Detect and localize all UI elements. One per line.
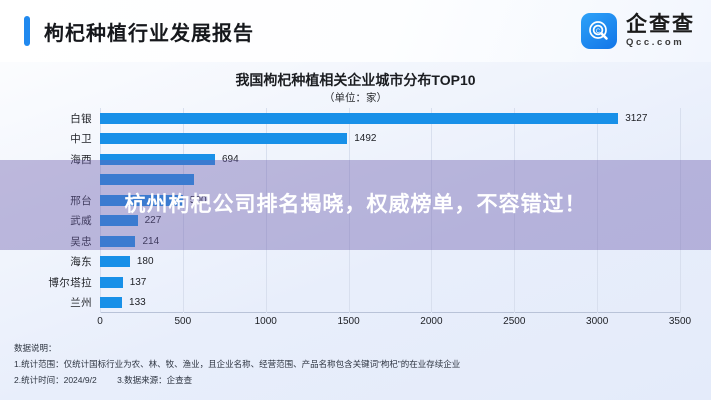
svg-text:C: C xyxy=(596,29,601,35)
x-tick-label: 500 xyxy=(175,316,192,327)
logo-en-text: Qcc.com xyxy=(626,38,695,48)
chart-bar[interactable] xyxy=(100,236,135,247)
bar-value-label: 3127 xyxy=(625,113,647,124)
report-page: 枸杞种植行业发展报告 C 企查查 Qcc.com 我国枸杞种植相关企业城市分布T… xyxy=(0,0,711,400)
chart-bar[interactable] xyxy=(100,133,347,144)
footer-heading: 数据说明： xyxy=(14,344,704,353)
bar-chart-plot: 白银3127中卫1492海西694邢台500武威227吴忠214海东180博尔塔… xyxy=(0,108,711,313)
chart-bar[interactable] xyxy=(100,277,123,288)
chart-row: 邢台500 xyxy=(0,190,711,211)
bar-value-label: 694 xyxy=(222,154,239,165)
x-axis-ticks: 0500100015002000250030003500 xyxy=(0,316,711,332)
footer-note-source: 3.数据来源：企查查 xyxy=(117,375,192,385)
category-label: 白银 xyxy=(0,111,92,126)
chart-bar[interactable] xyxy=(100,256,130,267)
x-tick-label: 1000 xyxy=(255,316,277,327)
footer-note-scope: 1.统计范围：仅统计国标行业为农、林、牧、渔业，且企业名称、经营范围、产品名称包… xyxy=(14,360,704,369)
brand-logo[interactable]: C 企查查 Qcc.com xyxy=(581,13,695,49)
chart-row xyxy=(0,170,711,191)
bar-value-label: 227 xyxy=(145,215,162,226)
logo-text-block: 企查查 Qcc.com xyxy=(626,14,695,48)
footer-note-meta: 2.统计时间：2024/9/2 3.数据来源：企查查 xyxy=(14,376,704,385)
chart-row: 吴忠214 xyxy=(0,231,711,252)
chart-bar[interactable] xyxy=(100,195,183,206)
chart-bar[interactable] xyxy=(100,154,215,165)
chart-row: 海东180 xyxy=(0,252,711,273)
x-tick-label: 2500 xyxy=(503,316,525,327)
page-title: 枸杞种植行业发展报告 xyxy=(44,17,254,46)
logo-cn-text: 企查查 xyxy=(626,14,695,35)
category-label: 吴忠 xyxy=(0,234,92,249)
x-tick-label: 3000 xyxy=(586,316,608,327)
x-tick-label: 1500 xyxy=(337,316,359,327)
qcc-logo-icon: C xyxy=(581,13,617,49)
chart-subtitle: （单位：家） xyxy=(0,90,711,105)
x-tick-label: 0 xyxy=(97,316,103,327)
bar-value-label: 180 xyxy=(137,256,154,267)
category-label: 兰州 xyxy=(0,295,92,310)
bar-value-label: 214 xyxy=(142,236,159,247)
page-header: 枸杞种植行业发展报告 C 企查查 Qcc.com xyxy=(0,0,711,62)
chart-row: 博尔塔拉137 xyxy=(0,272,711,293)
chart-bar[interactable] xyxy=(100,174,194,185)
chart-title: 我国枸杞种植相关企业城市分布TOP10 xyxy=(0,70,711,90)
category-label: 邢台 xyxy=(0,193,92,208)
bar-value-label: 500 xyxy=(190,195,207,206)
chart-bar[interactable] xyxy=(100,215,138,226)
header-accent-bar xyxy=(24,16,30,46)
chart-bar[interactable] xyxy=(100,113,618,124)
x-tick-label: 3500 xyxy=(669,316,691,327)
footer-note-time: 2.统计时间：2024/9/2 xyxy=(14,375,97,385)
chart-bar[interactable] xyxy=(100,297,122,308)
chart-row: 海西694 xyxy=(0,149,711,170)
category-label: 海西 xyxy=(0,152,92,167)
x-tick-label: 2000 xyxy=(420,316,442,327)
category-label: 中卫 xyxy=(0,131,92,146)
category-label: 博尔塔拉 xyxy=(0,275,92,290)
footer-notes: 数据说明： 1.统计范围：仅统计国标行业为农、林、牧、渔业，且企业名称、经营范围… xyxy=(14,344,704,392)
bar-value-label: 1492 xyxy=(354,133,376,144)
category-label: 海东 xyxy=(0,254,92,269)
chart-row: 白银3127 xyxy=(0,108,711,129)
chart-row: 兰州133 xyxy=(0,293,711,314)
chart-row: 武威227 xyxy=(0,211,711,232)
chart-row: 中卫1492 xyxy=(0,129,711,150)
category-label: 武威 xyxy=(0,213,92,228)
bar-value-label: 137 xyxy=(130,277,147,288)
bar-value-label: 133 xyxy=(129,297,146,308)
